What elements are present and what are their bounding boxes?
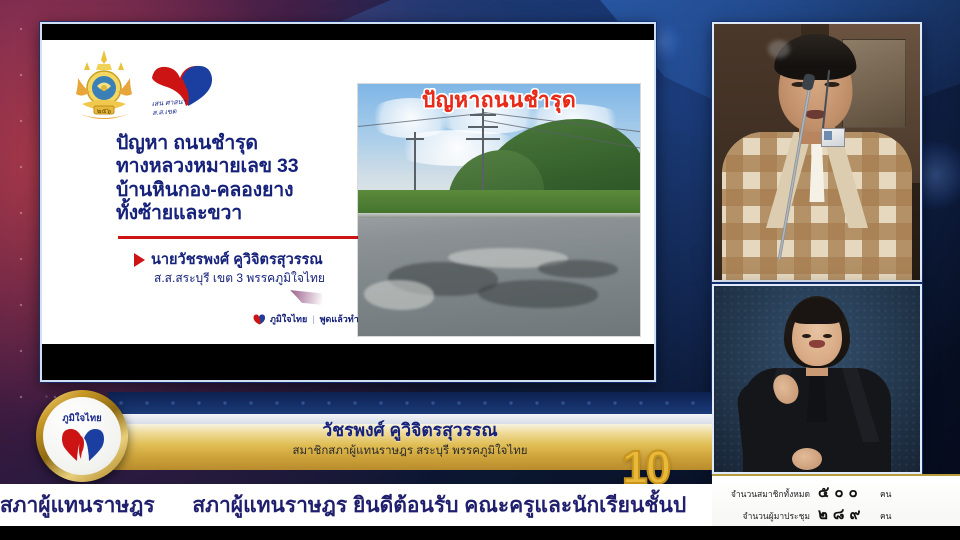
- interpreter-eye-left: [802, 334, 811, 338]
- ticker-segment-1: ุมสภาผู้แทนราษฎร: [0, 494, 155, 517]
- slide-road-photo: ปัญหาถนนชำรุด ปัญหาถนนชำรุด: [358, 84, 640, 336]
- speaker-camera-feed: [712, 22, 922, 282]
- slide-content: ๒๕๖ เสน ศาสนา ส.ส.เขต ปัญหา ถนนชำรุด ทาง…: [42, 40, 654, 344]
- slide-letterbox-bottom: [42, 344, 654, 380]
- news-ticker: ุมสภาผู้แทนราษฎร สภาผู้แทนราษฎร ยินดีต้อ…: [0, 484, 712, 526]
- triangle-bullet-icon: [134, 253, 145, 267]
- slide-speaker-name: นายวัชรพงศ์ คูวิจิตรสุวรรณ: [151, 248, 323, 271]
- ticker-text: ุมสภาผู้แทนราษฎร สภาผู้แทนราษฎร ยินดีต้อ…: [0, 489, 706, 522]
- lower-third-top-band: [108, 392, 712, 414]
- presentation-slide-panel: ๒๕๖ เสน ศาสนา ส.ส.เขต ปัญหา ถนนชำรุด ทาง…: [40, 22, 656, 382]
- svg-text:๒๕๖: ๒๕๖: [97, 108, 112, 115]
- photo-pylon-arm-3: [466, 138, 500, 140]
- slide-footer-party: ภูมิใจไทย: [270, 312, 307, 326]
- count-row-total: จำนวนสมาชิกทั้งหมด ๕๐๐ คน: [718, 480, 960, 502]
- thai-parliament-emblem: ๒๕๖: [70, 48, 138, 126]
- interpreter-resting-hand: [792, 448, 822, 470]
- photo-pylon-arm-2: [468, 126, 498, 128]
- speaker-name-text: วัชรพงศ์ คูวิจิตรสุวรรณ: [108, 416, 712, 444]
- count-label-present: จำนวนผู้มาประชุม: [718, 509, 818, 523]
- ticker-segment-2: สภาผู้แทนราษฎร ยินดีต้อนรับ คณะครูและนัก…: [192, 494, 686, 517]
- slide-footer-divider: |: [312, 314, 314, 324]
- photo-guardrail: [358, 213, 640, 218]
- count-row-present: จำนวนผู้มาประชุม ๒๘๙ คน: [718, 502, 960, 524]
- party-heart-logo: เสน ศาสนา ส.ส.เขต: [142, 64, 226, 122]
- photo-pylon-small-arm: [406, 138, 424, 140]
- speaker-id-badge: [821, 128, 845, 147]
- bottom-right-black-strip: [712, 526, 960, 540]
- photo-caption-fill: ปัญหาถนนชำรุด: [362, 84, 636, 117]
- interpreter-eye-right: [823, 334, 832, 338]
- party-medallion-label: ภูมิใจไทย: [62, 411, 101, 426]
- broadcast-screen: ๒๕๖ เสน ศาสนา ส.ส.เขต ปัญหา ถนนชำรุด ทาง…: [0, 0, 960, 540]
- count-label-total: จำนวนสมาชิกทั้งหมด: [718, 487, 818, 501]
- photo-pylon-small: [414, 132, 416, 190]
- party-heart-map-icon: [57, 427, 107, 463]
- sign-language-interpreter-feed: [712, 284, 922, 474]
- mini-heart-icon: [252, 314, 265, 325]
- speaker-torso: [722, 132, 912, 282]
- slide-divider-rule: [118, 236, 368, 239]
- count-unit-total: คน: [880, 487, 892, 501]
- attendance-count-panel: จำนวนสมาชิกทั้งหมด ๕๐๐ คน จำนวนผู้มาประช…: [712, 474, 960, 528]
- speaker-hair-highlight: [768, 40, 790, 58]
- photo-road-patch-2: [364, 280, 434, 310]
- count-value-total: ๕๐๐: [818, 480, 876, 504]
- count-value-present: ๒๘๙: [818, 502, 876, 526]
- slide-footer-slogan: พูดแล้วทำ: [320, 312, 359, 326]
- photo-caption-stroke: ปัญหาถนนชำรุด ปัญหาถนนชำรุด: [362, 84, 636, 117]
- slide-letterbox-top: [42, 24, 654, 40]
- count-unit-present: คน: [880, 509, 892, 523]
- party-medallion: ภูมิใจไทย: [36, 390, 128, 482]
- party-medallion-inner: ภูมิใจไทย: [43, 397, 121, 475]
- interpreter-mouth: [809, 340, 825, 348]
- slide-footer: ภูมิใจไทย | พูดแล้วทำ: [252, 312, 359, 326]
